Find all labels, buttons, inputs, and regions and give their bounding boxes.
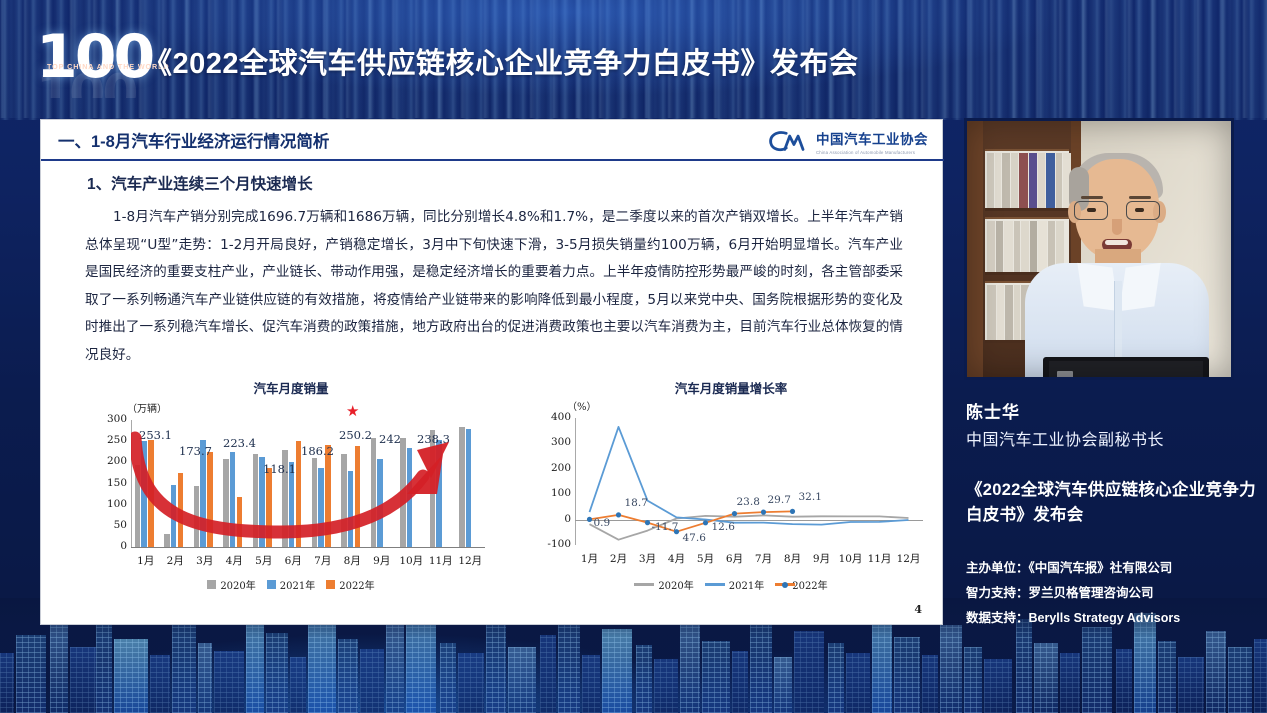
- legend-line-marker: [705, 583, 725, 586]
- legend-swatch: [207, 580, 216, 589]
- legend-item[interactable]: 2020年: [207, 577, 255, 592]
- legend-item[interactable]: 2020年: [634, 577, 693, 592]
- legend-swatch: [267, 580, 276, 589]
- legend-swatch: [326, 580, 335, 589]
- skyline-building: [582, 655, 600, 713]
- legend-line-marker: [775, 582, 788, 588]
- data-label: 0.9: [594, 517, 611, 529]
- organizer-line: 主办单位：《中国汽车报》社有限公司: [966, 557, 1258, 576]
- caam-logo-text: 中国汽车工业协会 China Association of Automobile…: [816, 128, 928, 155]
- page-header: 100 100 TOP CHINA AND THE WORLD 《2022全球汽…: [0, 0, 1267, 113]
- skyline-building: [96, 625, 112, 713]
- skyline-building: [702, 641, 730, 713]
- chart-title: 汽车月度销量: [91, 378, 491, 397]
- speaker-title: 中国汽车工业协会副秘书长: [966, 426, 1164, 450]
- x-axis-line: [131, 547, 485, 548]
- skyline-building: [732, 651, 748, 713]
- intellectual-support-line: 智力支持：罗兰贝格管理咨询公司: [966, 582, 1258, 601]
- caam-logo: 中国汽车工业协会 China Association of Automobile…: [768, 126, 928, 156]
- skyline-building: [150, 655, 170, 713]
- x-tick-label: 8月: [338, 553, 368, 568]
- x-tick-label: 6月: [279, 553, 309, 568]
- y-tick-label: 150: [95, 477, 127, 489]
- skyline-building: [1060, 653, 1080, 713]
- skyline-building: [214, 651, 244, 713]
- x-tick-label: 4月: [220, 553, 250, 568]
- legend-label: 2021年: [280, 577, 315, 592]
- data-label: 47.6: [683, 532, 706, 544]
- skyline-building: [0, 653, 14, 713]
- y-tick-label: 0: [95, 540, 127, 552]
- data-label: 18.7: [625, 497, 648, 509]
- y-tick-label: 50: [95, 519, 127, 531]
- skyline-building: [636, 645, 652, 713]
- speaker-panel: 陈士华 中国汽车工业协会副秘书长 《2022全球汽车供应链核心企业竞争力白皮书》…: [958, 110, 1258, 650]
- skyline-building: [894, 637, 920, 713]
- skyline-building: [1116, 649, 1132, 713]
- skyline-building: [360, 649, 384, 713]
- legend-label: 2020年: [220, 577, 255, 592]
- skyline-building: [1034, 643, 1058, 713]
- page-title: 《2022全球汽车供应链核心企业竞争力白皮书》发布会: [143, 40, 859, 82]
- legend-item[interactable]: 2022年: [326, 577, 374, 592]
- skyline-building: [654, 659, 678, 713]
- x-tick-label: 9月: [367, 553, 397, 568]
- event-title: 《2022全球汽车供应链核心企业竞争力白皮书》发布会: [966, 478, 1256, 528]
- legend-label: 2022年: [792, 577, 827, 592]
- y-axis-unit: （万辆）: [127, 400, 167, 415]
- slide-section-heading: 一、1-8月汽车行业经济运行情况简析: [58, 128, 329, 152]
- legend-label: 2021年: [729, 577, 764, 592]
- speaker-video[interactable]: [964, 118, 1234, 380]
- logo-100: 100 100 TOP CHINA AND THE WORLD: [36, 26, 152, 98]
- y-tick-label: 300: [95, 413, 127, 425]
- x-tick-label: 11月: [426, 553, 456, 568]
- x-tick-label: 3月: [190, 553, 220, 568]
- y-tick-label: 200: [95, 455, 127, 467]
- line-series-layer: [531, 378, 931, 593]
- data-label: 23.8: [737, 496, 760, 508]
- legend-item[interactable]: 2021年: [705, 577, 764, 592]
- chart-monthly-sales: 汽车月度销量（万辆）0501001502002503001月2月3月4月5月6月…: [91, 378, 491, 593]
- caam-name-cn: 中国汽车工业协会: [816, 128, 928, 148]
- skyline-building: [602, 629, 632, 713]
- slide-subheading: 1、汽车产业连续三个月快速增长: [87, 172, 313, 194]
- caam-name-en: China Association of Automobile Manufact…: [816, 150, 928, 155]
- data-support-line: 数据支持：Berylls Strategy Advisors: [966, 607, 1258, 626]
- legend-item[interactable]: 2022年: [775, 577, 827, 592]
- x-tick-label: 2月: [161, 553, 191, 568]
- legend-label: 2020年: [658, 577, 693, 592]
- skyline-building: [984, 659, 1012, 713]
- data-label: 29.7: [768, 494, 791, 506]
- x-tick-label: 10月: [397, 553, 427, 568]
- charts-area: 汽车月度销量（万辆）0501001502002503001月2月3月4月5月6月…: [41, 378, 944, 593]
- skyline-building: [440, 643, 456, 713]
- slide-body-text: 1-8月汽车产销分别完成1696.7万辆和1686万辆，同比分别增长4.8%和1…: [85, 204, 903, 369]
- u-arrow-icon: [131, 420, 485, 547]
- data-label: 12.6: [712, 521, 735, 533]
- skyline-building: [794, 631, 824, 713]
- slide-canvas: 一、1-8月汽车行业经济运行情况简析 中国汽车工业协会 China Associ…: [40, 119, 943, 625]
- star-icon: ★: [346, 404, 359, 419]
- legend-label: 2022年: [339, 577, 374, 592]
- data-label: -11.7: [652, 521, 679, 533]
- slide-page-number: 4: [914, 603, 922, 616]
- x-tick-label: 12月: [456, 553, 486, 568]
- skyline-building: [964, 647, 982, 713]
- legend-item[interactable]: 2021年: [267, 577, 315, 592]
- legend-line-marker: [634, 583, 654, 586]
- video-vignette: [967, 121, 1231, 377]
- skyline-building: [1228, 647, 1252, 713]
- y-tick-label: 100: [95, 498, 127, 510]
- logo-100-ghost: 100: [36, 72, 136, 98]
- skyline-building: [338, 639, 358, 713]
- skyline-building: [198, 643, 212, 713]
- skyline-building: [508, 647, 536, 713]
- skyline-building: [828, 643, 844, 713]
- skyline-building: [266, 633, 288, 713]
- skyline-building: [386, 625, 404, 713]
- caam-logo-icon: [768, 128, 810, 154]
- chart-monthly-growth-rate: 汽车月度销量增长率（%）-10001002003004001月2月3月4月5月6…: [531, 378, 931, 593]
- chart-legend: 2020年2021年2022年: [91, 577, 491, 592]
- x-tick-label: 5月: [249, 553, 279, 568]
- skyline-building: [1254, 639, 1267, 713]
- skyline-building: [290, 657, 306, 713]
- skyline-building: [16, 635, 46, 713]
- skyline-building: [774, 657, 792, 713]
- y-tick-label: 250: [95, 434, 127, 446]
- skyline-building: [1158, 641, 1176, 713]
- chart-legend: 2020年2021年2022年: [531, 577, 931, 592]
- skyline-building: [458, 653, 484, 713]
- skyline-building: [1178, 657, 1204, 713]
- skyline-building: [922, 655, 938, 713]
- skyline-building: [114, 639, 148, 713]
- skyline-building: [540, 635, 556, 713]
- skyline-building: [846, 653, 870, 713]
- x-tick-label: 1月: [131, 553, 161, 568]
- x-tick-label: 7月: [308, 553, 338, 568]
- speaker-name: 陈士华: [966, 398, 1020, 423]
- skyline-building: [70, 647, 96, 713]
- presentation-stage: 100 100 TOP CHINA AND THE WORLD 《2022全球汽…: [0, 0, 1267, 713]
- data-label: 32.1: [799, 491, 822, 503]
